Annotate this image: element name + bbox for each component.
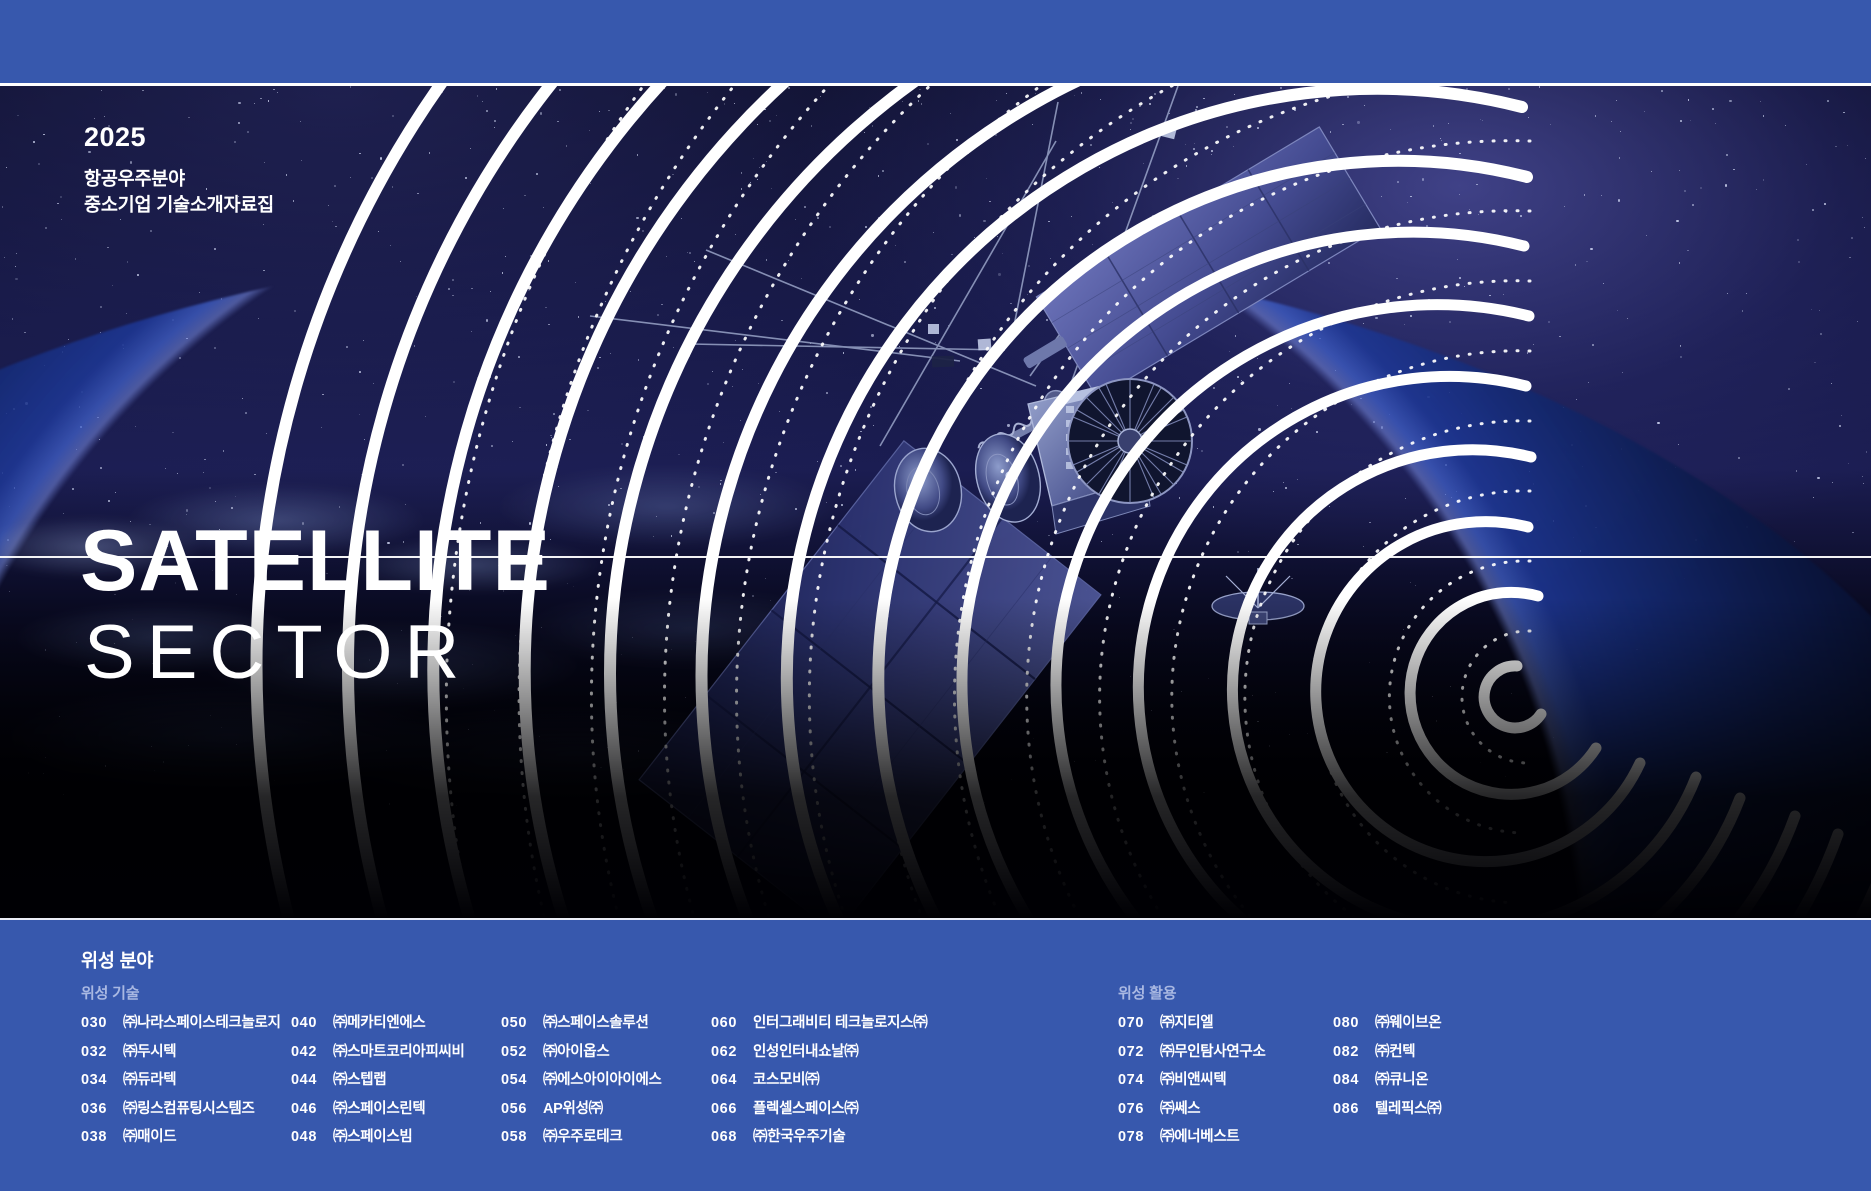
index-group-satellite-technology: 위성 기술 030㈜나라스페이스테크놀로지032㈜두시텍034㈜듀라텍036㈜링…: [81, 982, 921, 1159]
index-entry[interactable]: 064코스모비㈜: [711, 1073, 921, 1088]
index-entry-number: 044: [291, 1073, 333, 1088]
index-entry[interactable]: 080㈜웨이브온: [1333, 1016, 1548, 1031]
index-entry-name: 코스모비㈜: [753, 1073, 819, 1088]
index-entry-number: 038: [81, 1130, 123, 1145]
index-entry-name: ㈜에너베스트: [1160, 1130, 1239, 1145]
index-entry-number: 062: [711, 1045, 753, 1060]
masthead-subtitle-line1: 항공우주분야: [84, 166, 274, 192]
index-entry-number: 048: [291, 1130, 333, 1145]
index-group-label: 위성 활용: [1118, 982, 1548, 1003]
index-entry[interactable]: 074㈜비앤씨텍: [1118, 1073, 1333, 1088]
index-entry[interactable]: 082㈜컨텍: [1333, 1045, 1548, 1060]
index-entry[interactable]: 072㈜무인탐사연구소: [1118, 1045, 1333, 1060]
index-column: 050㈜스페이스솔루션052㈜아이옵스054㈜에스아이아이에스056AP위성㈜0…: [501, 1016, 711, 1159]
index-entry[interactable]: 060인터그래비티 테크놀로지스㈜: [711, 1016, 921, 1031]
hero-title-main: SATELLITE: [80, 520, 551, 603]
index-entry-number: 068: [711, 1130, 753, 1145]
index-entry-name: 플렉셀스페이스㈜: [753, 1102, 858, 1117]
index-entry-name: ㈜매이드: [123, 1130, 176, 1145]
index-entry-number: 032: [81, 1045, 123, 1060]
index-entry-number: 064: [711, 1073, 753, 1088]
index-entry-name: ㈜큐니온: [1375, 1073, 1428, 1088]
index-entry-number: 070: [1118, 1016, 1160, 1031]
index-entry[interactable]: 068㈜한국우주기술: [711, 1130, 921, 1145]
footer-index: 위성 분야 위성 기술 030㈜나라스페이스테크놀로지032㈜두시텍034㈜듀라…: [0, 918, 1871, 1191]
index-entry-number: 030: [81, 1016, 123, 1031]
index-entry[interactable]: 036㈜링스컴퓨팅시스템즈: [81, 1102, 291, 1117]
index-entry-name: ㈜나라스페이스테크놀로지: [123, 1016, 281, 1031]
masthead-year: 2025: [84, 124, 274, 151]
index-entry-name: 인성인터내쇼날㈜: [753, 1045, 858, 1060]
index-entry-name: ㈜비앤씨텍: [1160, 1073, 1226, 1088]
index-entry-name: ㈜쎄스: [1160, 1102, 1200, 1117]
index-column: 070㈜지티엘072㈜무인탐사연구소074㈜비앤씨텍076㈜쎄스078㈜에너베스…: [1118, 1016, 1333, 1159]
index-entry[interactable]: 030㈜나라스페이스테크놀로지: [81, 1016, 291, 1031]
index-entry[interactable]: 086텔레픽스㈜: [1333, 1102, 1548, 1117]
index-entry-number: 058: [501, 1130, 543, 1145]
index-entry[interactable]: 054㈜에스아이아이에스: [501, 1073, 711, 1088]
index-entry-name: 인터그래비티 테크놀로지스㈜: [753, 1016, 927, 1031]
index-entry-name: ㈜에스아이아이에스: [543, 1073, 662, 1088]
index-entry-number: 074: [1118, 1073, 1160, 1088]
footer-section-title: 위성 분야: [81, 947, 153, 973]
hero-title-sub: SECTOR: [84, 611, 551, 695]
index-entry-number: 066: [711, 1102, 753, 1117]
index-entry-number: 078: [1118, 1130, 1160, 1145]
index-entry-name: ㈜컨텍: [1375, 1045, 1415, 1060]
index-entry[interactable]: 058㈜우주로테크: [501, 1130, 711, 1145]
index-entry-name: ㈜아이옵스: [543, 1045, 609, 1060]
index-entry-name: ㈜스텝랩: [333, 1073, 386, 1088]
index-entry[interactable]: 038㈜매이드: [81, 1130, 291, 1145]
index-column: 030㈜나라스페이스테크놀로지032㈜두시텍034㈜듀라텍036㈜링스컴퓨팅시스…: [81, 1016, 291, 1159]
index-column: 080㈜웨이브온082㈜컨텍084㈜큐니온086텔레픽스㈜: [1333, 1016, 1548, 1159]
index-entry-number: 056: [501, 1102, 543, 1117]
cover-page: 2025 항공우주분야 중소기업 기술소개자료집 SATELLITE SECTO…: [0, 0, 1871, 1191]
index-entry-number: 072: [1118, 1045, 1160, 1060]
index-entry-number: 052: [501, 1045, 543, 1060]
index-entry-name: ㈜스페이스솔루션: [543, 1016, 648, 1031]
top-brand-bar: [0, 0, 1871, 83]
index-entry[interactable]: 040㈜메카티엔에스: [291, 1016, 501, 1031]
index-entry-name: ㈜메카티엔에스: [333, 1016, 425, 1031]
index-entry-name: ㈜듀라텍: [123, 1073, 176, 1088]
index-entry-name: ㈜우주로테크: [543, 1130, 622, 1145]
index-entry[interactable]: 062인성인터내쇼날㈜: [711, 1045, 921, 1060]
index-entry-number: 042: [291, 1045, 333, 1060]
index-entry-name: ㈜지티엘: [1160, 1016, 1213, 1031]
index-entry-name: ㈜스페이스빔: [333, 1130, 412, 1145]
index-entry-name: ㈜링스컴퓨팅시스템즈: [123, 1102, 255, 1117]
index-entry-number: 060: [711, 1016, 753, 1031]
index-entry[interactable]: 084㈜큐니온: [1333, 1073, 1548, 1088]
index-entry-number: 076: [1118, 1102, 1160, 1117]
index-entry-name: ㈜스페이스린텍: [333, 1102, 425, 1117]
index-group-satellite-application: 위성 활용 070㈜지티엘072㈜무인탐사연구소074㈜비앤씨텍076㈜쎄스07…: [1118, 982, 1548, 1159]
index-entry-number: 036: [81, 1102, 123, 1117]
index-entry[interactable]: 052㈜아이옵스: [501, 1045, 711, 1060]
index-entry-number: 054: [501, 1073, 543, 1088]
footer-top-divider: [0, 918, 1871, 920]
index-column: 060인터그래비티 테크놀로지스㈜062인성인터내쇼날㈜064코스모비㈜066플…: [711, 1016, 921, 1159]
index-entry-number: 080: [1333, 1016, 1375, 1031]
index-columns: 030㈜나라스페이스테크놀로지032㈜두시텍034㈜듀라텍036㈜링스컴퓨팅시스…: [81, 1016, 921, 1159]
index-entry[interactable]: 032㈜두시텍: [81, 1045, 291, 1060]
index-entry[interactable]: 048㈜스페이스빔: [291, 1130, 501, 1145]
index-entry-name: ㈜웨이브온: [1375, 1016, 1441, 1031]
index-entry[interactable]: 044㈜스텝랩: [291, 1073, 501, 1088]
index-entry-name: AP위성㈜: [543, 1102, 603, 1117]
index-entry-number: 046: [291, 1102, 333, 1117]
index-entry-number: 086: [1333, 1102, 1375, 1117]
index-entry[interactable]: 066플렉셀스페이스㈜: [711, 1102, 921, 1117]
index-entry[interactable]: 056AP위성㈜: [501, 1102, 711, 1117]
index-entry-number: 040: [291, 1016, 333, 1031]
index-column: 040㈜메카티엔에스042㈜스마트코리아피씨비044㈜스텝랩046㈜스페이스린텍…: [291, 1016, 501, 1159]
index-entry[interactable]: 034㈜듀라텍: [81, 1073, 291, 1088]
index-entry[interactable]: 042㈜스마트코리아피씨비: [291, 1045, 501, 1060]
index-entry-number: 034: [81, 1073, 123, 1088]
index-entry-name: ㈜두시텍: [123, 1045, 176, 1060]
index-entry-name: ㈜한국우주기술: [753, 1130, 845, 1145]
index-entry-number: 084: [1333, 1073, 1375, 1088]
index-entry-name: ㈜무인탐사연구소: [1160, 1045, 1265, 1060]
index-columns: 070㈜지티엘072㈜무인탐사연구소074㈜비앤씨텍076㈜쎄스078㈜에너베스…: [1118, 1016, 1548, 1159]
index-entry-name: 텔레픽스㈜: [1375, 1102, 1441, 1117]
masthead-subtitle-line2: 중소기업 기술소개자료집: [84, 192, 274, 218]
index-entry[interactable]: 070㈜지티엘: [1118, 1016, 1333, 1031]
index-entry[interactable]: 078㈜에너베스트: [1118, 1130, 1333, 1145]
index-entry[interactable]: 050㈜스페이스솔루션: [501, 1016, 711, 1031]
index-group-label: 위성 기술: [81, 982, 921, 1003]
masthead: 2025 항공우주분야 중소기업 기술소개자료집: [84, 124, 274, 219]
index-entry-number: 082: [1333, 1045, 1375, 1060]
index-entry-name: ㈜스마트코리아피씨비: [333, 1045, 465, 1060]
index-entry[interactable]: 076㈜쎄스: [1118, 1102, 1333, 1117]
hero-space-image: [0, 86, 1871, 918]
index-entry-number: 050: [501, 1016, 543, 1031]
hero-title-block: SATELLITE SECTOR: [80, 520, 551, 694]
index-entry[interactable]: 046㈜스페이스린텍: [291, 1102, 501, 1117]
